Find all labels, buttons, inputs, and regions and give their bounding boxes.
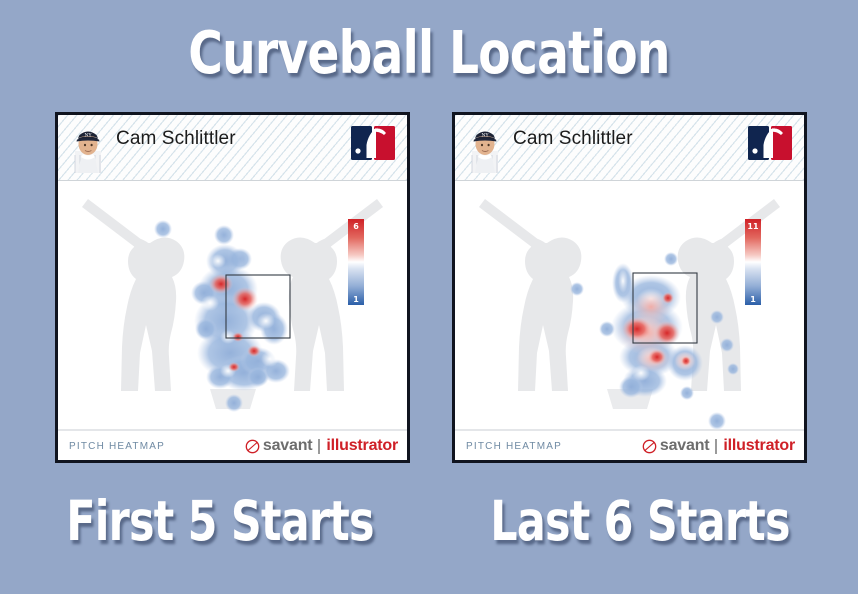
brand-separator: [715, 439, 717, 454]
heatmap-card-first-5-starts: NY Cam Schlittler: [55, 112, 410, 463]
player-headshot: NY: [68, 121, 108, 173]
batter-silhouette-left: [479, 199, 581, 391]
card-header: NY Cam Schlittler: [455, 115, 804, 181]
brand-savant: savant: [263, 437, 313, 455]
poster-canvas: Curveball Location NY Cam Schlittler: [0, 0, 858, 594]
colorbar-min-label: 1: [353, 295, 359, 304]
heatmap-card-last-6-starts: NY Cam Schlittler: [452, 112, 807, 463]
brand-illustrator: illustrator: [326, 437, 398, 455]
page-title: Curveball Location: [86, 22, 772, 84]
card-footer: PITCH HEATMAP savant illustrator: [58, 429, 407, 463]
brand-separator: [318, 439, 320, 454]
colorbar-max-label: 6: [353, 222, 359, 231]
player-headshot: NY: [465, 121, 505, 173]
card-footer: PITCH HEATMAP savant illustrator: [455, 429, 804, 463]
caption-last-6-starts: Last 6 Starts: [468, 492, 811, 550]
savant-illustrator-brand: savant illustrator: [245, 437, 398, 455]
footer-label: PITCH HEATMAP: [466, 441, 562, 452]
svg-text:NY: NY: [481, 132, 489, 138]
colorbar-max-label: 11: [747, 222, 759, 231]
baseball-icon: [245, 439, 260, 454]
card-header: NY Cam Schlittler: [58, 115, 407, 181]
mlb-logo-icon: [746, 125, 794, 161]
mlb-logo-icon: [349, 125, 397, 161]
pitch-heatmap-plot: 6 1: [58, 181, 407, 429]
caption-first-5-starts: First 5 Starts: [48, 492, 391, 550]
svg-text:NY: NY: [84, 132, 92, 138]
baseball-icon: [642, 439, 657, 454]
batter-silhouette-right: [281, 199, 383, 391]
player-name: Cam Schlittler: [116, 128, 236, 150]
brand-savant: savant: [660, 437, 710, 455]
footer-label: PITCH HEATMAP: [69, 441, 165, 452]
brand-illustrator: illustrator: [723, 437, 795, 455]
player-name: Cam Schlittler: [513, 128, 633, 150]
savant-illustrator-brand: savant illustrator: [642, 437, 795, 455]
pitch-heatmap-plot: 11 1: [455, 181, 804, 429]
colorbar: 11 1: [745, 219, 761, 305]
colorbar-min-label: 1: [750, 295, 756, 304]
colorbar: 6 1: [348, 219, 364, 305]
